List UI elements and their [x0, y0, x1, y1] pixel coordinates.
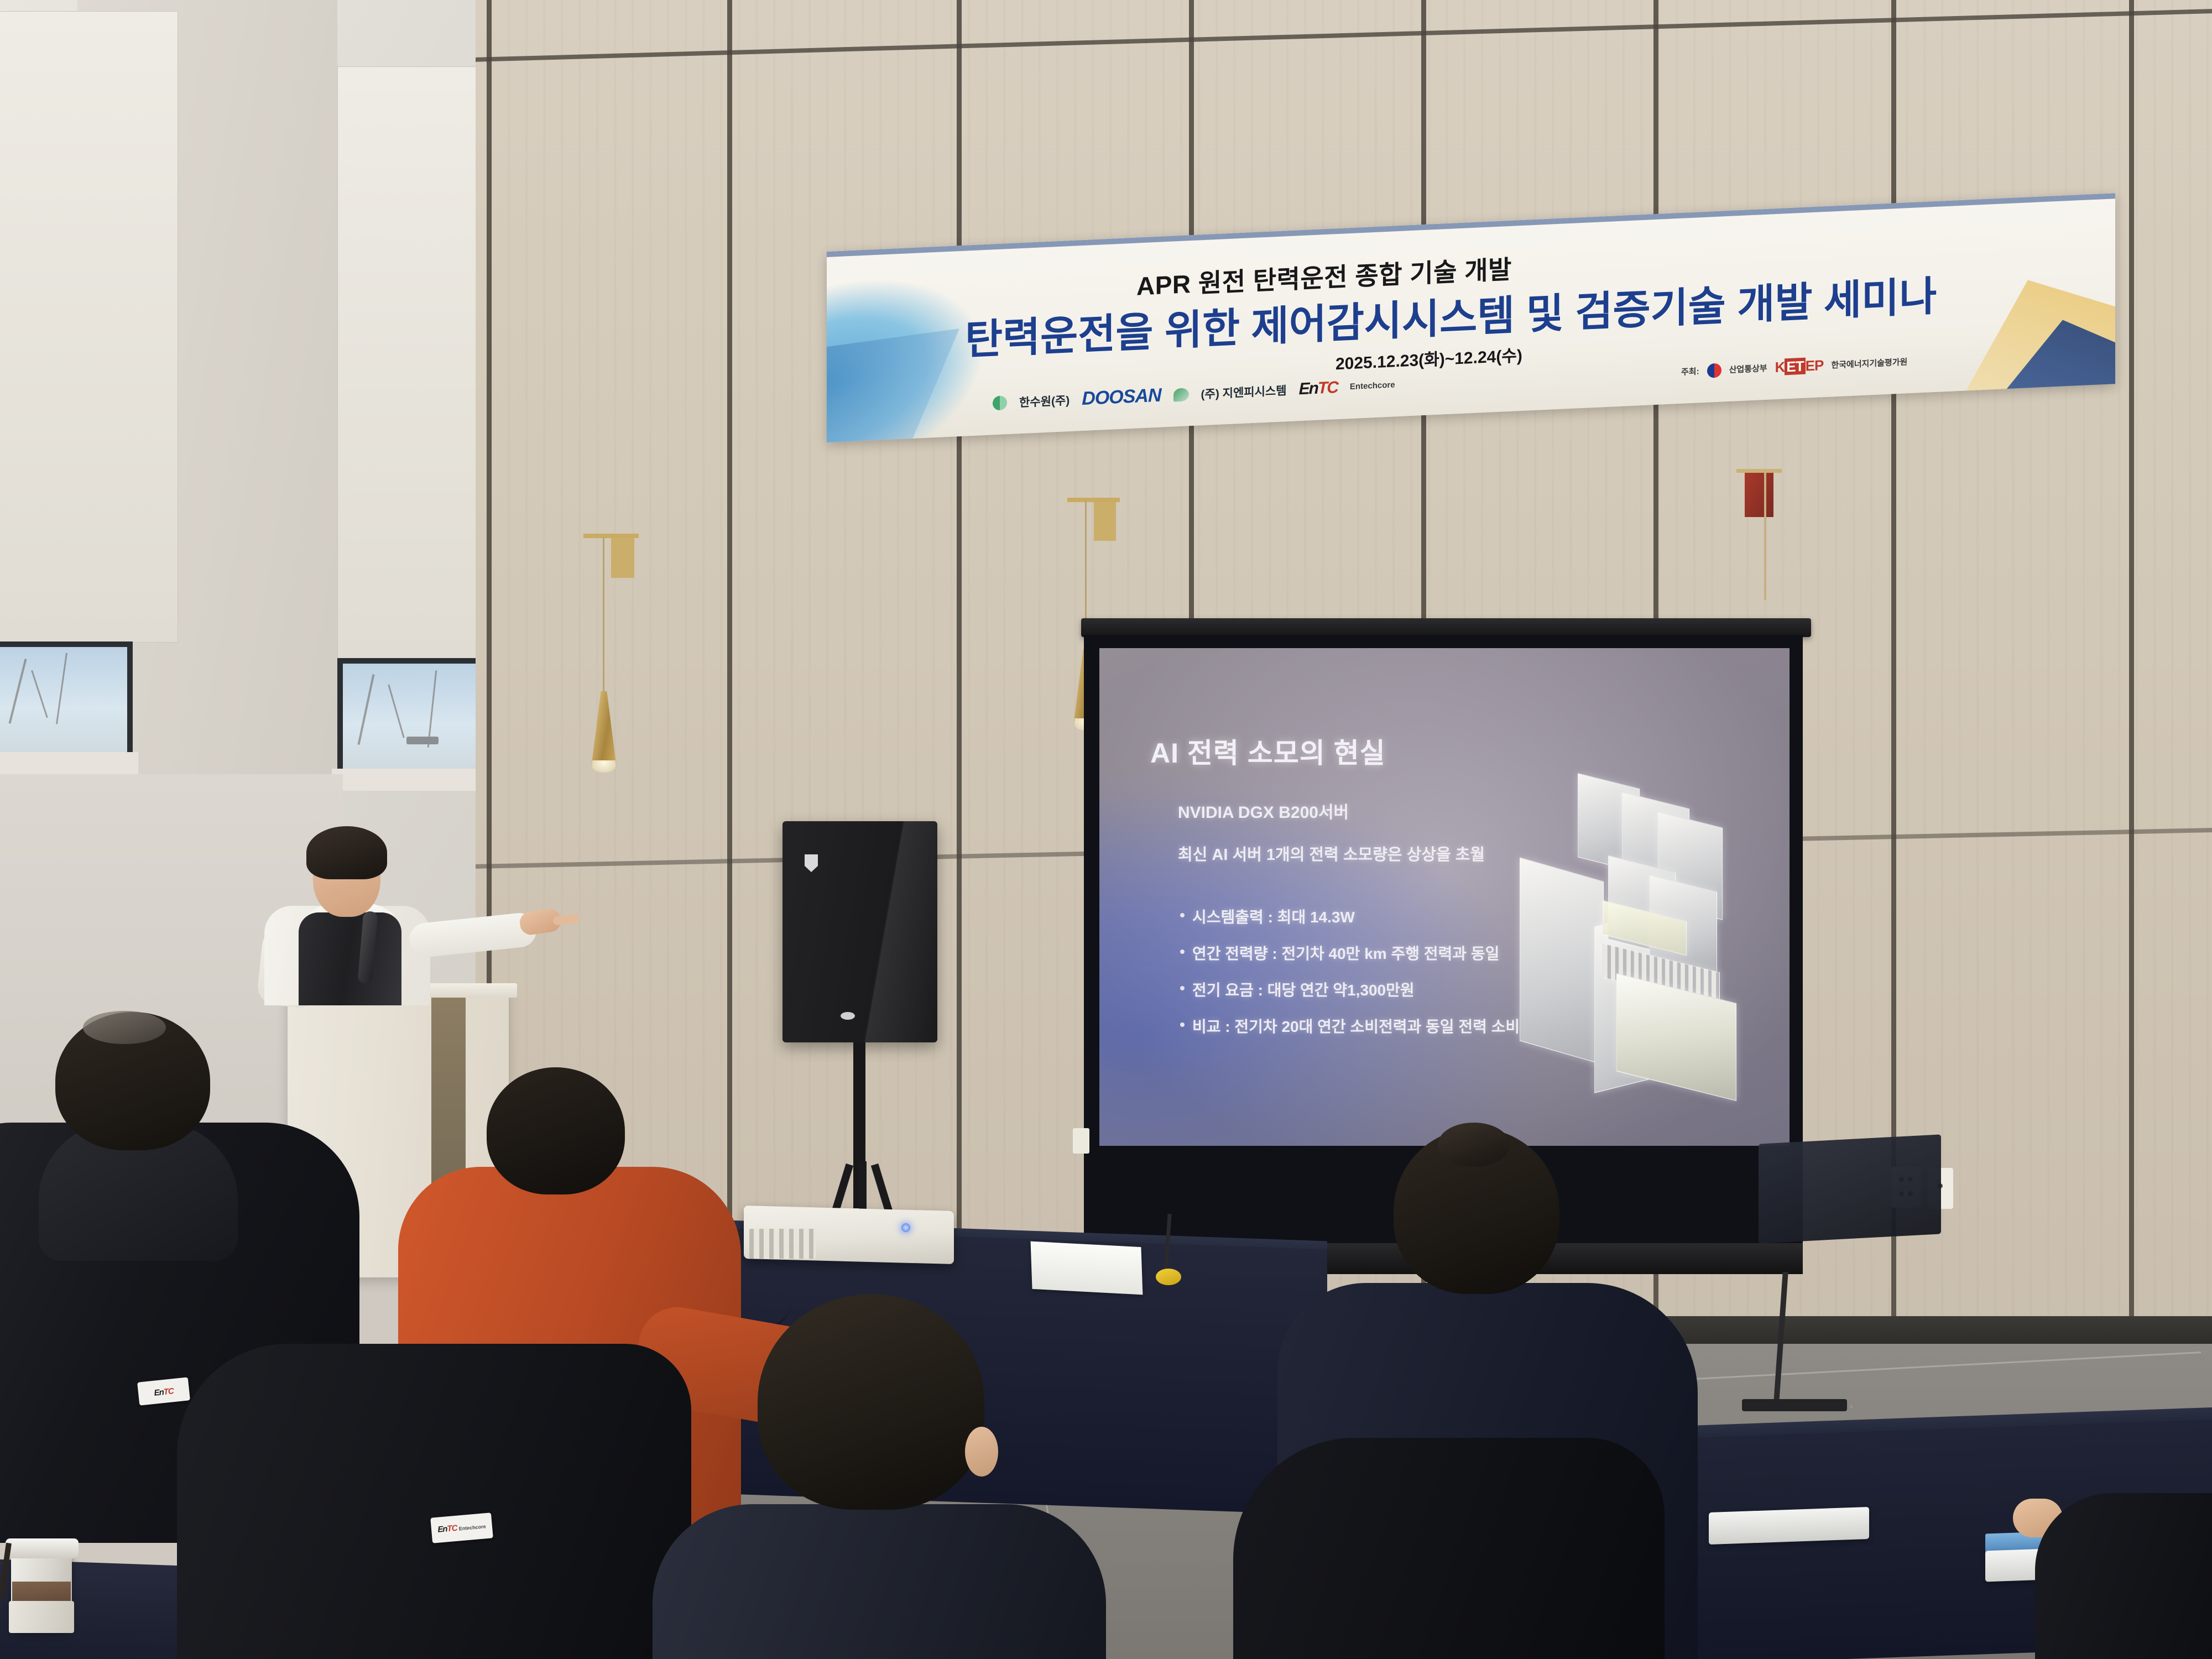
gnp-logo-icon [1173, 388, 1189, 401]
audience-person-front-body [653, 1504, 1106, 1659]
presenter-hair [306, 826, 387, 879]
banner-host-block: 주최: 산업통상부 KETEP 한국에너지기술평가원 [1681, 353, 1907, 380]
slide-title: AI 전력 소모의 현실 [1150, 731, 1386, 771]
audience-person-front-ear [965, 1427, 998, 1477]
slide-subtitle: NVIDIA DGX B200서버 [1178, 799, 1349, 823]
bullet-dot-icon [1180, 950, 1185, 954]
window-sill-left [0, 752, 138, 774]
host-ketep-label: 한국에너지기술평가원 [1831, 356, 1907, 371]
coffee-cup-lid [6, 1538, 79, 1558]
badge-2-text: EnTC Entechcore [430, 1512, 493, 1543]
slide-bullet-2-text: 연간 전력량 : 전기차 40만 km 주행 전력과 동일 [1192, 942, 1499, 964]
yellow-desk-object [1156, 1269, 1181, 1285]
projection-screen-case [1081, 618, 1811, 637]
badge-2-subtext: Entechcore [458, 1524, 486, 1531]
slide-bullet-1-text: 시스템출력 : 최대 14.3W [1192, 905, 1355, 927]
korea-government-emblem-icon [1707, 363, 1721, 378]
wall-sconce-red-rod [1764, 473, 1766, 600]
bullet-dot-icon [1180, 986, 1185, 990]
badge-1-text: EnTC [137, 1377, 190, 1407]
presentation-slide: AI 전력 소모의 현실 NVIDIA DGX B200서버 최신 AI 서버 … [1099, 648, 1790, 1146]
slide-bullet-3-text: 전기 요금 : 대당 연간 약1,300만원 [1192, 978, 1415, 1000]
name-badge-1: EnTC [137, 1377, 190, 1405]
background-monitor [1759, 1134, 1941, 1243]
doosan-wordmark: DOOSAN [1082, 385, 1161, 410]
audience-person-right-jacket [1233, 1438, 1665, 1659]
screen-stand-foot [1742, 1399, 1847, 1411]
audience-person-right-hair [1438, 1123, 1510, 1167]
wall-switch[interactable] [1073, 1128, 1089, 1154]
slide-bullet-4: 비교 : 전기차 20대 연간 소비전력과 동일 전력 소비 [1180, 1015, 1520, 1037]
slide-bullet-2: 연간 전력량 : 전기차 40만 km 주행 전력과 동일 [1180, 942, 1520, 964]
slide-bullet-3: 전기 요금 : 대당 연간 약1,300만원 [1180, 978, 1520, 1000]
laptop-closed-1[interactable] [1709, 1507, 1869, 1545]
projector-ports-icon [749, 1229, 816, 1259]
bullet-dot-icon [1180, 1022, 1185, 1027]
banner-host-label: 주최: [1681, 365, 1699, 377]
window-roller-blind-left[interactable] [0, 11, 178, 643]
audience-person-orange-head [487, 1067, 625, 1194]
host-motie-label: 산업통상부 [1729, 362, 1767, 375]
paper-notepad [1031, 1241, 1143, 1295]
window-left [0, 641, 133, 763]
audience-person-black-gray-hair [83, 1011, 166, 1044]
khnp-logo-icon [993, 395, 1007, 410]
server-render-image [1520, 775, 1757, 1085]
coffee-cup-sleeve [9, 1601, 74, 1633]
slide-lead-text: 최신 AI 서버 1개의 전력 소모량은 상상을 초월 [1178, 842, 1485, 865]
bullet-dot-icon [1180, 913, 1185, 917]
slide-bullet-4-text: 비교 : 전기차 20대 연간 소비전력과 동일 전력 소비 [1192, 1015, 1520, 1037]
speaker-port-icon [841, 1012, 855, 1020]
seminar-room-photo: APR 원전 탄력운전 종합 기술 개발 탄력운전을 위한 제어감시시스템 및 … [0, 0, 2212, 1659]
ketep-logo-icon: KETEP [1775, 357, 1824, 376]
name-badge-2: EnTC Entechcore [430, 1512, 493, 1543]
slide-bullet-list: 시스템출력 : 최대 14.3W 연간 전력량 : 전기차 40만 km 주행 … [1180, 905, 1520, 1051]
wall-sconce-red-arm [1736, 469, 1782, 473]
slide-bullet-1: 시스템출력 : 최대 14.3W [1180, 905, 1520, 927]
sponsor-gnp-label: (주) 지엔피시스템 [1201, 382, 1287, 402]
sponsor-khnp-label: 한수원(주) [1019, 392, 1070, 410]
presenter-vest [299, 912, 401, 1005]
audience-person-far-right-body [2035, 1493, 2212, 1659]
wall-sconce-red [1745, 473, 1773, 517]
entechcore-logo-icon: EnTC [1299, 378, 1338, 399]
audience-person-front-head [758, 1294, 984, 1510]
audience-person-center-jacket [177, 1344, 691, 1659]
sponsor-entechcore-label: Entechcore [1350, 380, 1395, 392]
banner-sponsor-logos: 한수원(주) DOOSAN (주) 지엔피시스템 EnTC Entechcore [993, 374, 1395, 414]
projector-power-led-icon [901, 1223, 910, 1232]
